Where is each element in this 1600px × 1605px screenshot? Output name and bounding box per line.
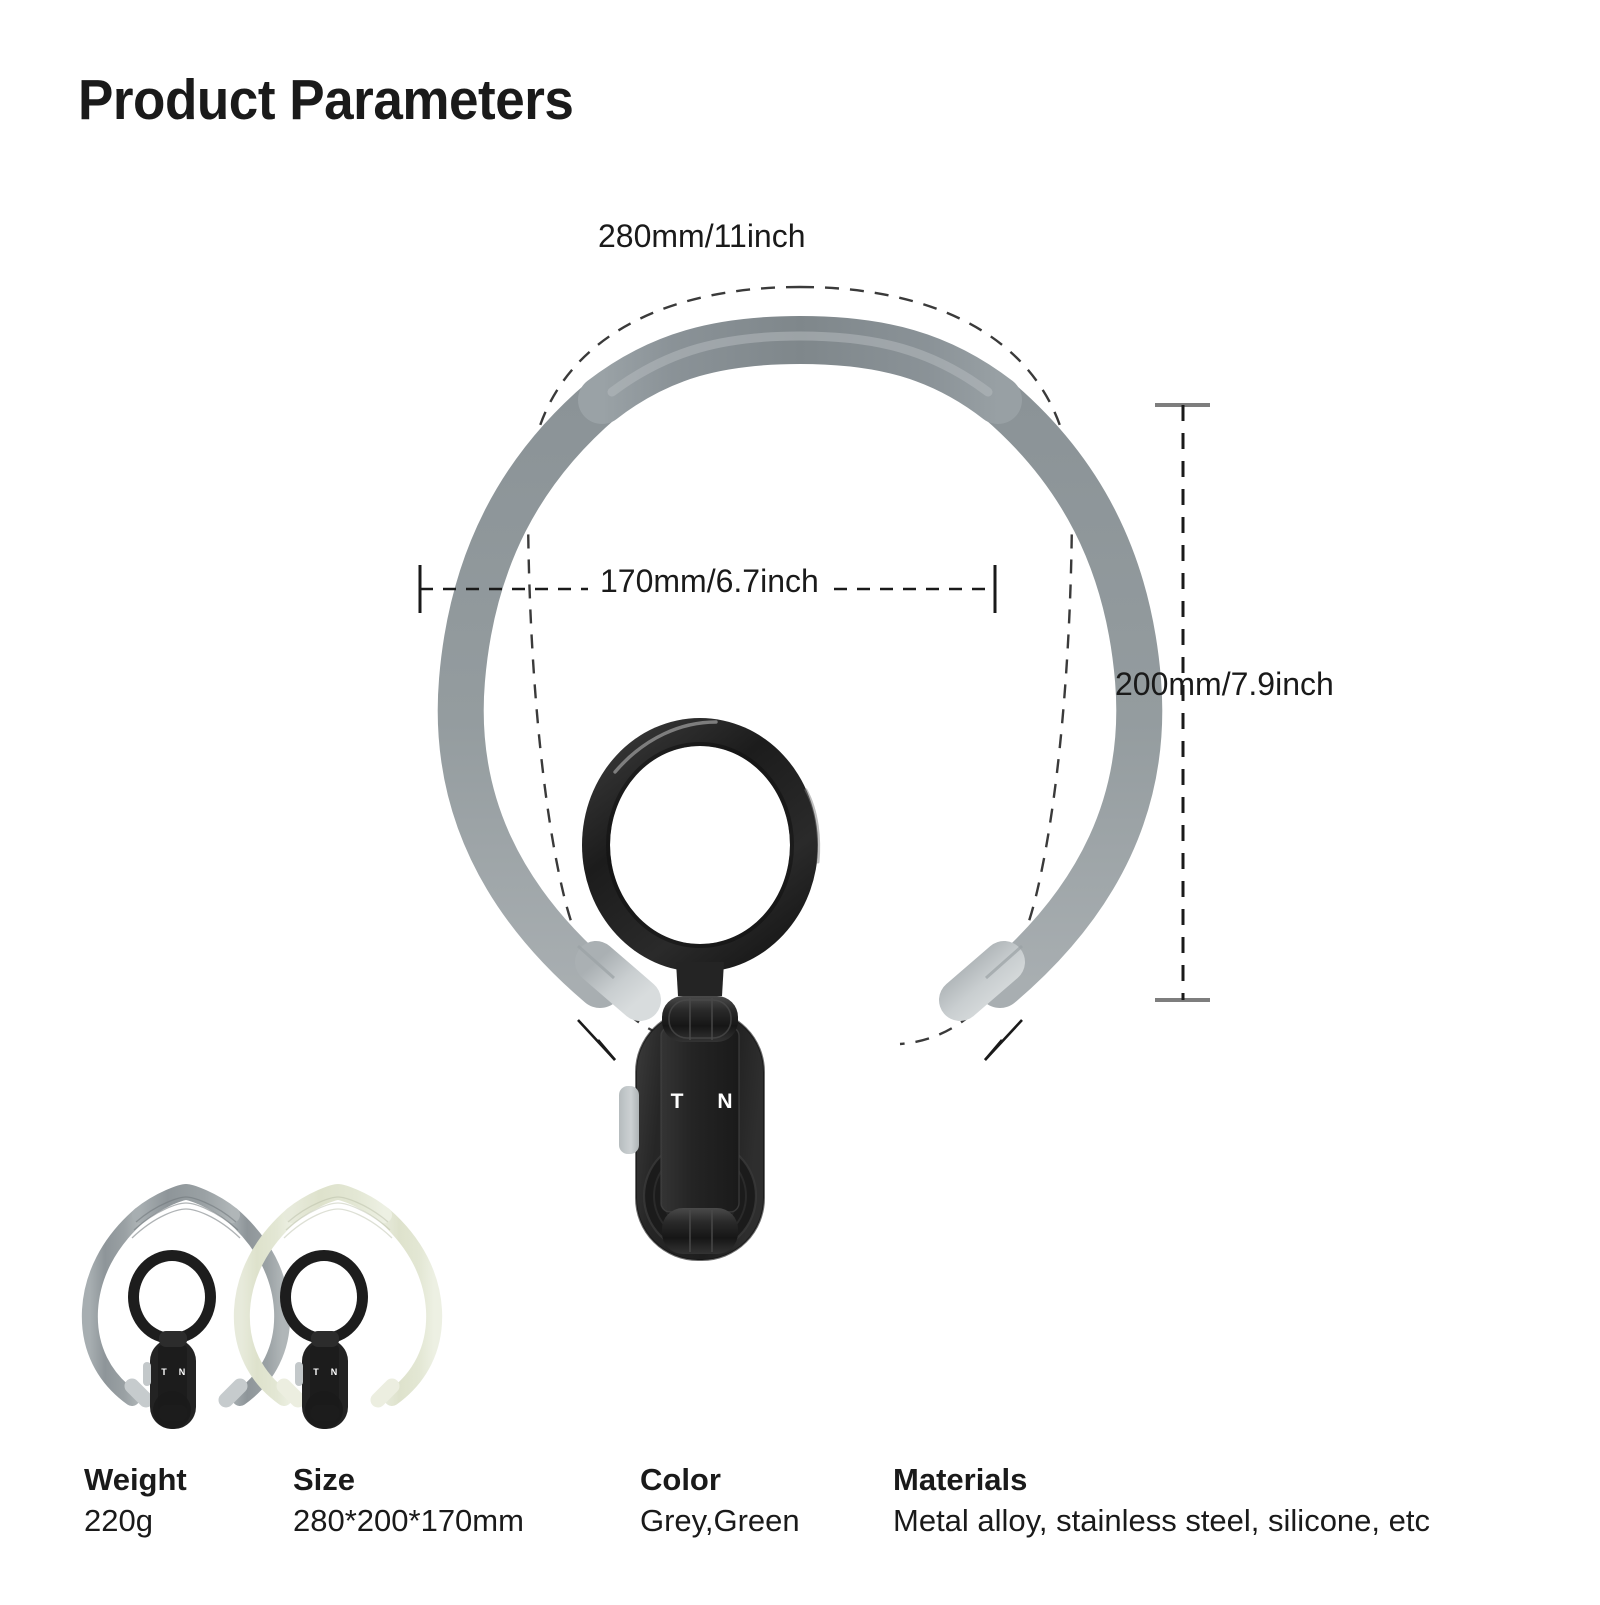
side-button[interactable]: [619, 1086, 639, 1154]
device-body: T N: [619, 996, 764, 1260]
magnetic-ring: [582, 718, 819, 996]
variant-thumbnail-green[interactable]: T N: [242, 1192, 434, 1429]
spec-size: Size 280*200*170mm: [293, 1462, 524, 1539]
specifications-row: Weight 220g Size 280*200*170mm Color Gre…: [0, 1462, 1600, 1582]
svg-text:N: N: [179, 1367, 186, 1377]
spec-materials-value: Metal alloy, stainless steel, silicone, …: [893, 1503, 1430, 1540]
spec-weight: Weight 220g: [84, 1462, 187, 1539]
svg-text:T: T: [313, 1367, 319, 1377]
page-title: Product Parameters: [78, 72, 573, 129]
hinge-bottom: [662, 1208, 738, 1254]
spec-color-value: Grey,Green: [640, 1503, 800, 1540]
spec-color: Color Grey,Green: [640, 1462, 800, 1539]
spec-color-title: Color: [640, 1462, 800, 1499]
dimension-label-inner-width: 170mm/6.7inch: [588, 563, 831, 600]
dimension-label-width: 280mm/11inch: [598, 218, 806, 255]
body-marking-left: T: [671, 1090, 684, 1113]
hinge-top: [662, 996, 738, 1042]
body-marking-right: N: [717, 1090, 732, 1113]
outline-dashed-boundary: [528, 287, 1072, 1060]
spec-weight-title: Weight: [84, 1462, 187, 1499]
svg-text:T: T: [161, 1367, 167, 1377]
variant-thumbnail-grey[interactable]: T N: [90, 1192, 282, 1429]
spec-weight-value: 220g: [84, 1503, 187, 1540]
dimension-label-height: 200mm/7.9inch: [1115, 666, 1334, 703]
spec-size-title: Size: [293, 1462, 524, 1499]
neckband: [461, 336, 1140, 1000]
spec-materials: Materials Metal alloy, stainless steel, …: [893, 1462, 1430, 1539]
spec-size-value: 280*200*170mm: [293, 1503, 524, 1540]
svg-text:N: N: [331, 1367, 338, 1377]
spec-materials-title: Materials: [893, 1462, 1430, 1499]
